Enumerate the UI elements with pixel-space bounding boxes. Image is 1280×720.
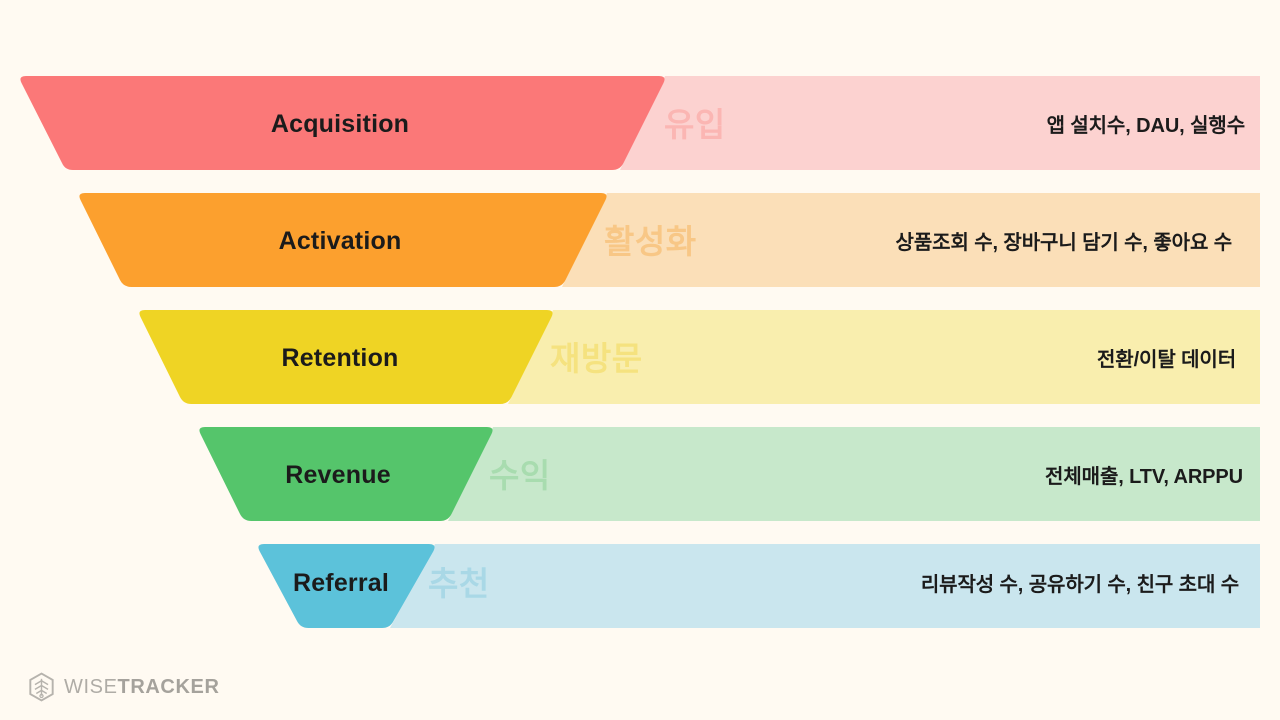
brand-name-light: WISE [64, 676, 118, 698]
stage-label-referral-en: Referral [293, 569, 389, 597]
stage-label-retention-en: Retention [281, 344, 398, 372]
stage-label-referral-ko: 추천 [428, 565, 490, 602]
stage-label-revenue-en: Revenue [285, 461, 391, 489]
brand-logo: WISETRACKER [28, 672, 220, 702]
stage-label-retention-ko: 재방문 [550, 340, 643, 377]
stage-label-revenue-ko: 수익 [489, 457, 551, 494]
funnel-row-revenue[interactable]: Revenue 수익 전체매출, LTV, ARPPU [199, 427, 1260, 521]
stage-metrics-revenue: 전체매출, LTV, ARPPU [1045, 465, 1243, 488]
stage-metrics-retention: 전환/이탈 데이터 [1097, 348, 1236, 371]
funnel-row-acquisition[interactable]: Acquisition 유입 앱 설치수, DAU, 실행수 [20, 76, 1260, 170]
stage-label-activation-en: Activation [279, 227, 402, 255]
funnel-diagram: Acquisition 유입 앱 설치수, DAU, 실행수 Activatio… [0, 0, 1280, 720]
stage-metrics-acquisition: 앱 설치수, DAU, 실행수 [1047, 114, 1245, 137]
hexagon-leaf-icon [28, 672, 55, 702]
stage-label-acquisition-en: Acquisition [271, 110, 409, 138]
funnel-row-activation[interactable]: Activation 활성화 상품조회 수, 장바구니 담기 수, 좋아요 수 [79, 193, 1260, 287]
stage-label-activation-ko: 활성화 [604, 223, 697, 260]
funnel-row-referral[interactable]: Referral 추천 리뷰작성 수, 공유하기 수, 친구 초대 수 [258, 544, 1260, 628]
brand-name-bold: TRACKER [118, 676, 220, 698]
stage-metrics-activation: 상품조회 수, 장바구니 담기 수, 좋아요 수 [896, 231, 1232, 254]
funnel-row-retention[interactable]: Retention 재방문 전환/이탈 데이터 [139, 310, 1260, 404]
stage-label-acquisition-ko: 유입 [664, 106, 726, 143]
brand-wordmark: WISETRACKER [64, 677, 220, 697]
stage-metrics-referral: 리뷰작성 수, 공유하기 수, 친구 초대 수 [921, 573, 1239, 596]
